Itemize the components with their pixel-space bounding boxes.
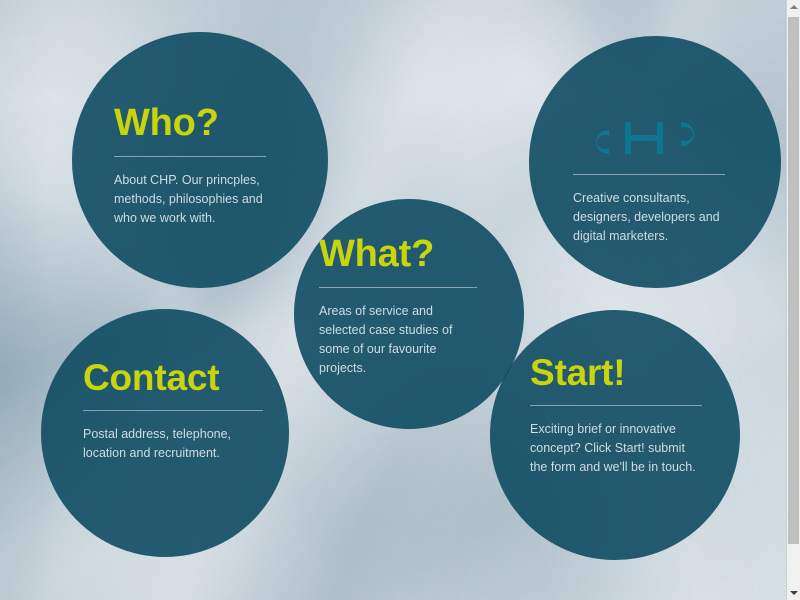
scroll-down-button[interactable] xyxy=(787,586,800,600)
nav-circle-start[interactable]: Start! Exciting brief or innovative conc… xyxy=(490,310,740,560)
scrollbar-thumb[interactable] xyxy=(788,17,799,544)
nav-circle-chp-content: Creative consultants, designers, develop… xyxy=(573,114,725,246)
nav-circle-who[interactable]: Who? About CHP. Our princples, methods, … xyxy=(72,32,328,288)
nav-circle-start-content: Start! Exciting brief or innovative conc… xyxy=(530,354,702,477)
nav-circle-start-title: Start! xyxy=(530,354,702,391)
nav-circle-contact-divider xyxy=(83,410,263,411)
browser-viewport: Who? About CHP. Our princples, methods, … xyxy=(0,0,800,600)
nav-circle-who-title: Who? xyxy=(114,104,266,142)
scroll-up-button[interactable] xyxy=(787,0,800,14)
nav-circle-chp[interactable]: Creative consultants, designers, develop… xyxy=(529,36,781,288)
scroll-up-arrow-icon xyxy=(790,5,798,9)
nav-circle-chp-description: Creative consultants, designers, develop… xyxy=(573,189,725,246)
nav-circle-what-description: Areas of service and selected case studi… xyxy=(319,302,477,378)
nav-circle-chp-divider xyxy=(573,174,725,175)
nav-circle-contact-content: Contact Postal address, telephone, locat… xyxy=(83,359,263,463)
nav-circle-what-title: What? xyxy=(319,235,477,273)
chp-logo-wrapper xyxy=(573,114,725,160)
scroll-down-arrow-icon xyxy=(790,591,798,595)
vertical-scrollbar[interactable] xyxy=(786,0,800,600)
chp-logo-icon xyxy=(573,114,719,160)
nav-circle-start-divider xyxy=(530,405,702,406)
nav-circle-contact-title: Contact xyxy=(83,359,263,396)
nav-circle-start-description: Exciting brief or innovative concept? Cl… xyxy=(530,420,702,477)
nav-circle-what-content: What? Areas of service and selected case… xyxy=(319,235,477,378)
nav-circle-chp-inner: Creative consultants, designers, develop… xyxy=(529,36,781,288)
nav-circle-contact-inner: Contact Postal address, telephone, locat… xyxy=(41,309,289,557)
page-canvas: Who? About CHP. Our princples, methods, … xyxy=(0,0,786,600)
nav-circle-start-inner: Start! Exciting brief or innovative conc… xyxy=(490,310,740,560)
nav-circle-who-inner: Who? About CHP. Our princples, methods, … xyxy=(72,32,328,288)
nav-circle-contact[interactable]: Contact Postal address, telephone, locat… xyxy=(41,309,289,557)
nav-circle-who-description: About CHP. Our princples, methods, philo… xyxy=(114,171,266,228)
nav-circle-what-divider xyxy=(319,287,477,288)
nav-circle-who-content: Who? About CHP. Our princples, methods, … xyxy=(114,104,266,228)
nav-circle-who-divider xyxy=(114,156,266,157)
nav-circle-contact-description: Postal address, telephone, location and … xyxy=(83,425,263,463)
